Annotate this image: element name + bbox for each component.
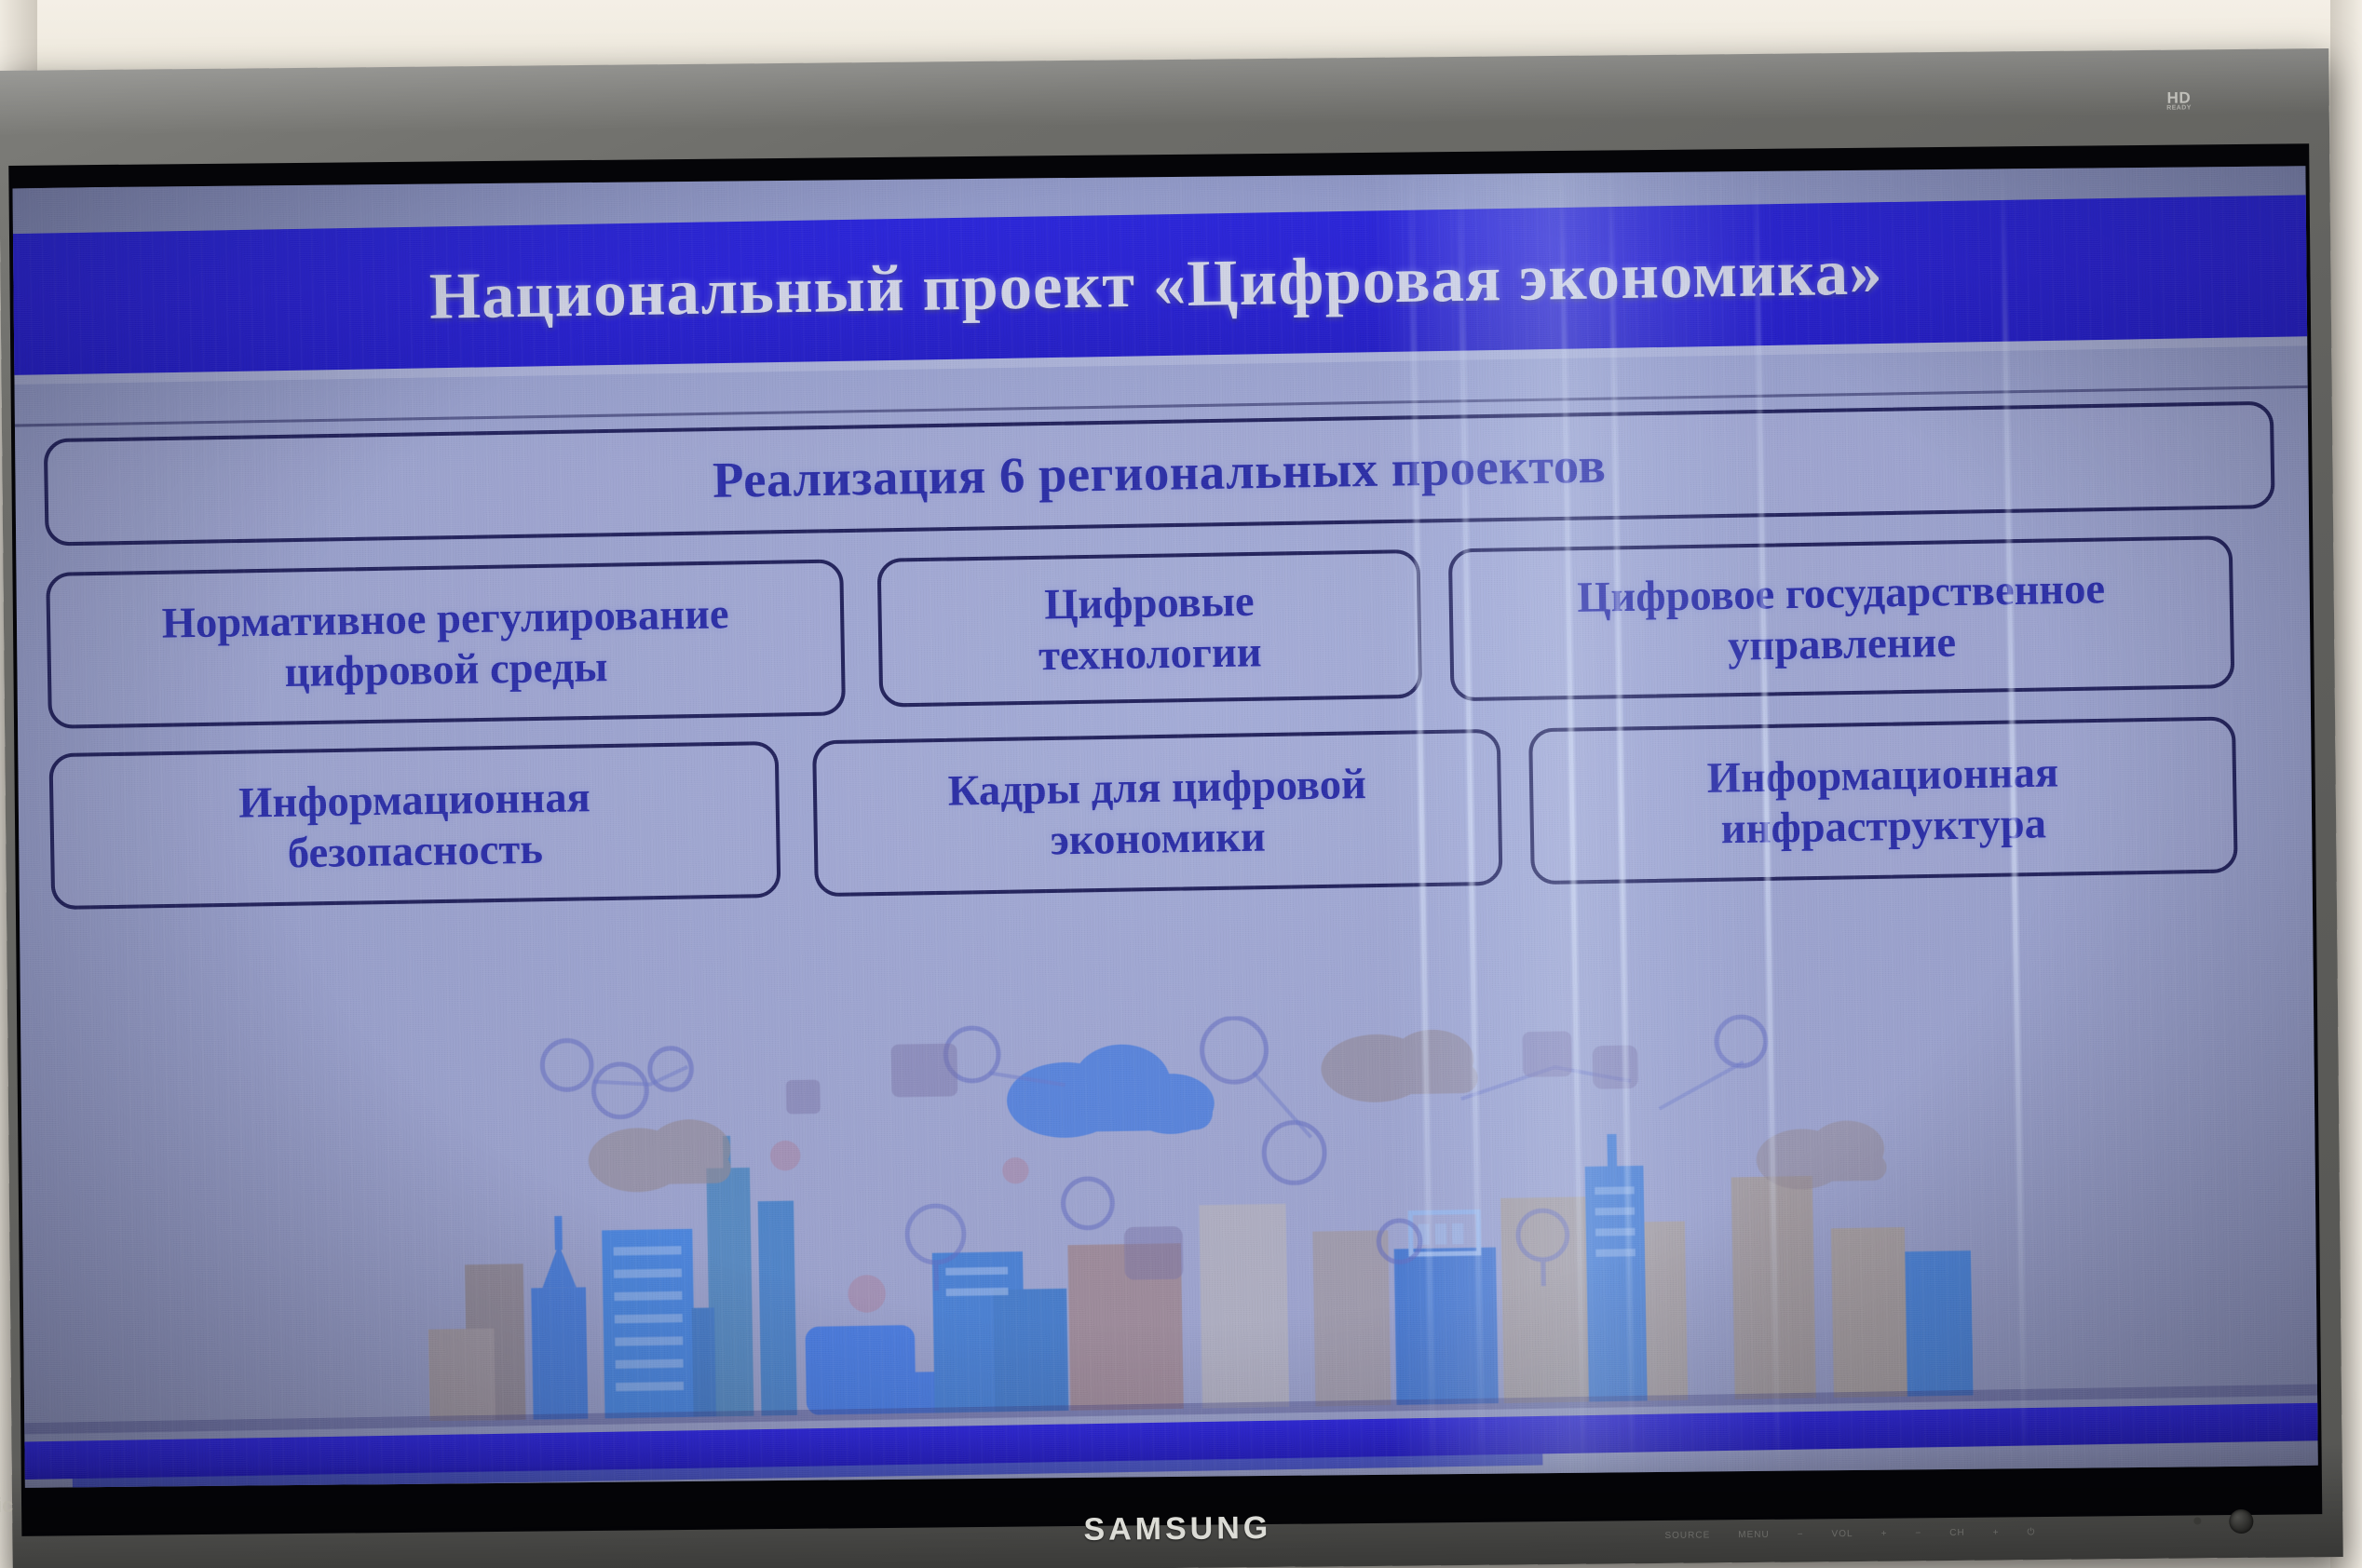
samsung-display: HD READY Национальный проект «Цифровая э…	[0, 48, 2343, 1568]
control-label-vol-minus[interactable]: −	[1798, 1530, 1804, 1540]
row1-gap-a	[843, 559, 879, 716]
hd-ready-badge: HD READY	[2166, 90, 2192, 111]
screen-frame: Национальный проект «Цифровая экономика»…	[8, 143, 2322, 1536]
control-label-source[interactable]: SOURCE	[1664, 1530, 1710, 1540]
projects-area: Реализация 6 региональных проектов Норма…	[44, 401, 2282, 910]
control-label-ch-minus[interactable]: −	[1915, 1528, 1921, 1538]
projects-row-1: Нормативное регулирование цифровой среды…	[46, 534, 2278, 729]
project-label-line2: безопасность	[287, 824, 543, 876]
control-label-ch: CH	[1949, 1528, 1965, 1538]
project-box-normative-regulation: Нормативное регулирование цифровой среды	[46, 559, 846, 728]
project-label: Кадры для цифровой экономики	[947, 758, 1367, 867]
project-label: Информационная инфраструктура	[1706, 747, 2059, 855]
control-label-vol: VOL	[1831, 1529, 1853, 1539]
project-label-line1: Информационная	[1706, 748, 2058, 802]
presentation-slide: Национальный проект «Цифровая экономика»…	[12, 166, 2317, 1488]
ir-remote-sensor	[2229, 1509, 2253, 1534]
projects-row-2: Информационная безопасность Кадры для ци…	[48, 716, 2281, 911]
project-label-line2: цифровой среды	[284, 642, 608, 696]
project-label: Нормативное регулирование цифровой среды	[161, 588, 730, 700]
project-box-digital-government: Цифровое государственное управление	[1448, 535, 2235, 701]
control-label-power[interactable]: ⏻	[2027, 1527, 2035, 1537]
project-box-information-security: Информационная безопасность	[48, 741, 781, 910]
hd-badge-sub: READY	[2166, 105, 2192, 112]
subtitle-box: Реализация 6 региональных проектов	[44, 401, 2275, 547]
project-box-information-infrastructure: Информационная инфраструктура	[1528, 716, 2238, 885]
project-box-digital-technologies: Цифровые технологии	[877, 549, 1423, 708]
project-label-line1: Цифровые	[1044, 576, 1255, 628]
subtitle-text: Реализация 6 региональных проектов	[713, 436, 1607, 511]
power-led-indicator	[2193, 1517, 2201, 1524]
row2-gap-b	[1500, 728, 1528, 729]
project-label-line2: инфраструктура	[1720, 799, 2046, 853]
slide-title: Национальный проект «Цифровая экономика»	[428, 236, 1883, 335]
control-label-vol-plus[interactable]: +	[1880, 1529, 1887, 1539]
control-label-menu[interactable]: MENU	[1738, 1530, 1770, 1540]
row1-gap-b	[1419, 548, 1450, 705]
screen: Национальный проект «Цифровая экономика»…	[12, 166, 2317, 1488]
project-label: Цифровые технологии	[1038, 575, 1262, 682]
row2-gap-a	[779, 740, 812, 741]
project-box-digital-economy-workforce: Кадры для цифровой экономики	[812, 729, 1502, 897]
project-label-line1: Нормативное регулирование	[161, 589, 729, 647]
project-label: Информационная безопасность	[238, 771, 591, 879]
project-label: Цифровое государственное управление	[1577, 563, 2107, 674]
project-label-line1: Кадры для цифровой	[947, 759, 1366, 814]
room-scene: HD READY Национальный проект «Цифровая э…	[0, 0, 2362, 1568]
project-label-line2: технологии	[1038, 628, 1262, 680]
project-label-line1: Цифровое государственное	[1577, 564, 2106, 621]
project-label-line2: управление	[1728, 617, 1957, 669]
wall-corner-mark: ic	[0, 1494, 13, 1518]
control-label-ch-plus[interactable]: +	[1993, 1527, 2000, 1537]
project-label-line2: экономики	[1050, 812, 1266, 864]
project-label-line1: Информационная	[238, 772, 590, 826]
smart-city-illustration	[404, 1004, 1994, 1436]
